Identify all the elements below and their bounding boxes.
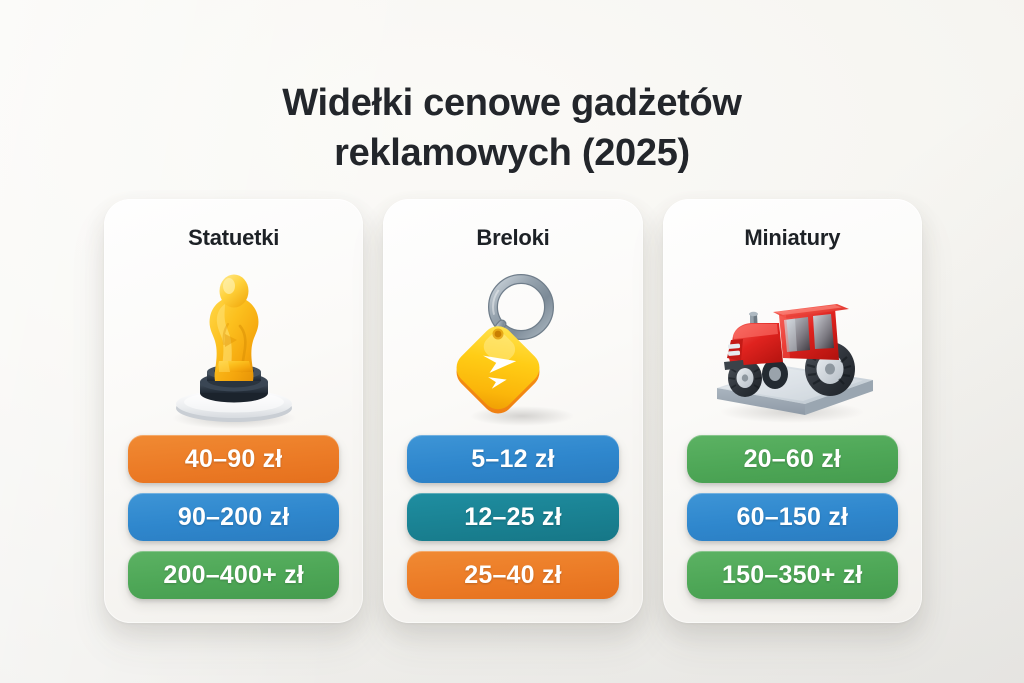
illustration-statuetki — [122, 261, 345, 435]
price-pill[interactable]: 12–25 zł — [407, 493, 618, 541]
tractor-miniature-icon — [687, 262, 897, 434]
category-card-row: Statuetki — [104, 199, 922, 623]
illustration-breloki — [401, 261, 624, 435]
page-title: Widełki cenowe gadżetów reklamowych (202… — [0, 78, 1024, 178]
trophy-statuette-icon — [139, 262, 329, 434]
price-pill[interactable]: 150–350+ zł — [687, 551, 898, 599]
illustration-miniatury — [681, 261, 904, 435]
price-pill[interactable]: 40–90 zł — [128, 435, 339, 483]
keychain-fob-icon — [418, 262, 608, 434]
price-pill[interactable]: 20–60 zł — [687, 435, 898, 483]
infographic-stage: Widełki cenowe gadżetów reklamowych (202… — [0, 0, 1024, 683]
page-title-line-2: reklamowych (2025) — [0, 128, 1024, 178]
card-title-statuetki: Statuetki — [188, 225, 279, 251]
card-title-breloki: Breloki — [476, 225, 549, 251]
card-title-miniatury: Miniatury — [744, 225, 840, 251]
price-pill[interactable]: 25–40 zł — [407, 551, 618, 599]
category-card-statuetki[interactable]: Statuetki — [104, 199, 363, 623]
price-pill-list-breloki: 5–12 zł 12–25 zł 25–40 zł — [401, 435, 624, 601]
price-pill[interactable]: 60–150 zł — [687, 493, 898, 541]
page-title-line-1: Widełki cenowe gadżetów — [0, 78, 1024, 128]
price-pill[interactable]: 90–200 zł — [128, 493, 339, 541]
category-card-miniatury[interactable]: Miniatury — [663, 199, 922, 623]
price-pill-list-miniatury: 20–60 zł 60–150 zł 150–350+ zł — [681, 435, 904, 601]
price-pill-list-statuetki: 40–90 zł 90–200 zł 200–400+ zł — [122, 435, 345, 601]
category-card-breloki[interactable]: Breloki — [383, 199, 642, 623]
price-pill[interactable]: 5–12 zł — [407, 435, 618, 483]
price-pill[interactable]: 200–400+ zł — [128, 551, 339, 599]
